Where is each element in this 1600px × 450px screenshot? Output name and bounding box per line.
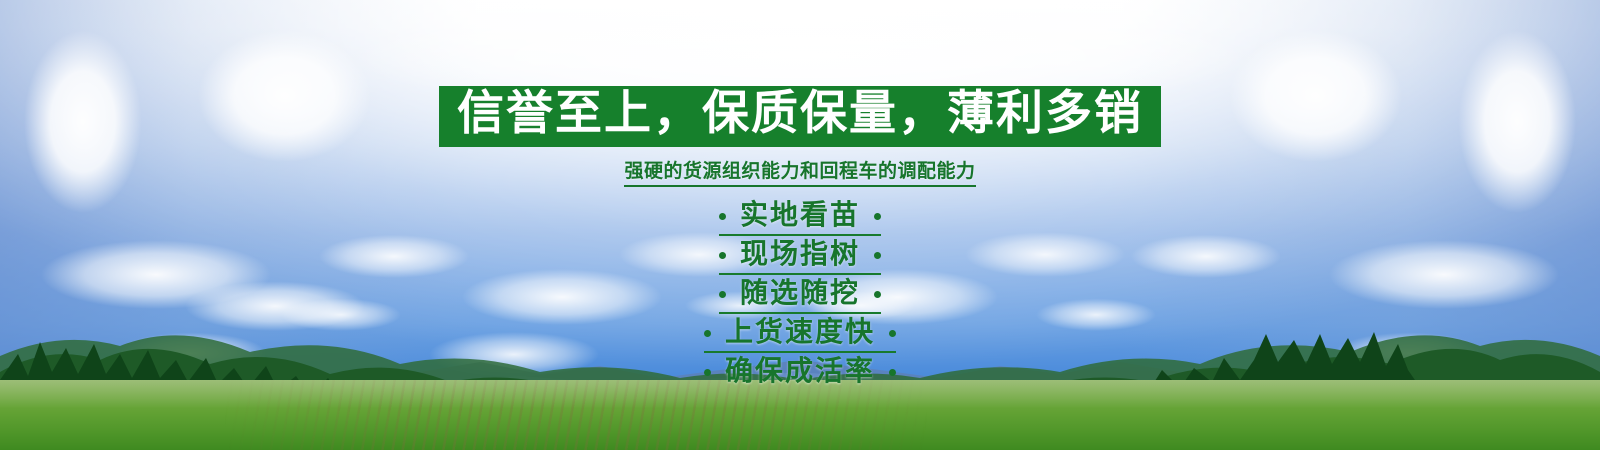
bullet-dot-icon [719, 291, 726, 298]
feature-item-1: 实地看苗 [719, 197, 881, 236]
bullet-dot-icon [719, 252, 726, 259]
feature-label: 上货速度快 [725, 315, 875, 348]
feature-label: 现场指树 [740, 237, 860, 270]
banner-content: 信誉至上，保质保量，薄利多销 强硬的货源组织能力和回程车的调配能力 实地看苗 现… [0, 0, 1600, 390]
bullet-dot-icon [874, 252, 881, 259]
feature-label: 确保成活率 [725, 354, 875, 387]
bullet-dot-icon [889, 330, 896, 337]
banner-subtitle: 强硬的货源组织能力和回程车的调配能力 [624, 156, 975, 187]
feature-item-3: 随选随挖 [719, 275, 881, 314]
feature-item-5: 确保成活率 [704, 353, 896, 390]
bullet-dot-icon [719, 213, 726, 220]
page-title: 信誉至上，保质保量，薄利多销 [457, 89, 1143, 140]
bullet-dot-icon [704, 369, 711, 376]
bullet-dot-icon [889, 369, 896, 376]
hero-banner: 信誉至上，保质保量，薄利多销 强硬的货源组织能力和回程车的调配能力 实地看苗 现… [0, 0, 1600, 450]
bullet-dot-icon [874, 291, 881, 298]
bullet-dot-icon [704, 330, 711, 337]
feature-label: 实地看苗 [740, 198, 860, 231]
feature-item-2: 现场指树 [719, 236, 881, 275]
title-banner-box: 信誉至上，保质保量，薄利多销 [439, 86, 1161, 147]
feature-label: 随选随挖 [740, 276, 860, 309]
feature-list: 实地看苗 现场指树 随选随挖 上货速度快 确保成活率 [704, 197, 896, 390]
field-haze [0, 380, 1600, 450]
bullet-dot-icon [874, 213, 881, 220]
feature-item-4: 上货速度快 [704, 314, 896, 353]
